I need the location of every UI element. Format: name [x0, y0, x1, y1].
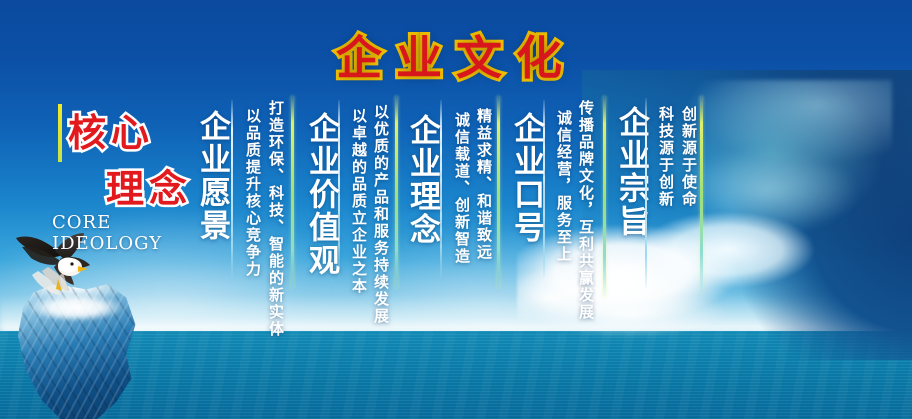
column-detail-values-2: 以优质的产品和服务持续发展: [371, 104, 392, 325]
corporate-culture-banner: 企业文化 核心 理念 CORE IDEOLOGY 企业愿景 以品质提升核心竞争力…: [0, 0, 912, 419]
divider-vision-right: [291, 96, 294, 288]
culture-columns: 企业愿景 以品质提升核心竞争力 打造环保、科技、智能的新实体 企业价值观 以卓越…: [0, 0, 912, 419]
column-detail-mission-1: 科技源于创新: [656, 106, 677, 208]
column-title-mission: 企业宗旨: [609, 106, 654, 238]
divider-slogan-right: [603, 96, 606, 296]
divider-mission-right: [700, 96, 703, 292]
column-detail-philosophy-2: 精益求精、和谐致远: [474, 108, 495, 261]
column-detail-vision-1: 以品质提升核心竞争力: [243, 108, 264, 278]
column-title-vision: 企业愿景: [190, 110, 235, 242]
column-title-philosophy: 企业理念: [400, 114, 445, 246]
column-title-slogan: 企业口号: [504, 112, 549, 244]
column-detail-vision-2: 打造环保、科技、智能的新实体: [266, 100, 287, 338]
column-detail-values-1: 以卓越的品质立企业之本: [349, 108, 370, 295]
column-detail-mission-2: 创新源于使命: [679, 106, 700, 208]
divider-mission-left: [645, 98, 647, 288]
divider-values-right: [395, 96, 398, 288]
column-detail-philosophy-1: 诚信载道、创新智造: [452, 112, 473, 265]
column-title-values: 企业价值观: [299, 112, 344, 277]
divider-philosophy-right: [497, 96, 500, 288]
column-detail-slogan-2: 传播品牌文化，互利共赢发展: [576, 100, 597, 321]
column-detail-slogan-1: 诚信经营，服务至上: [554, 110, 575, 263]
